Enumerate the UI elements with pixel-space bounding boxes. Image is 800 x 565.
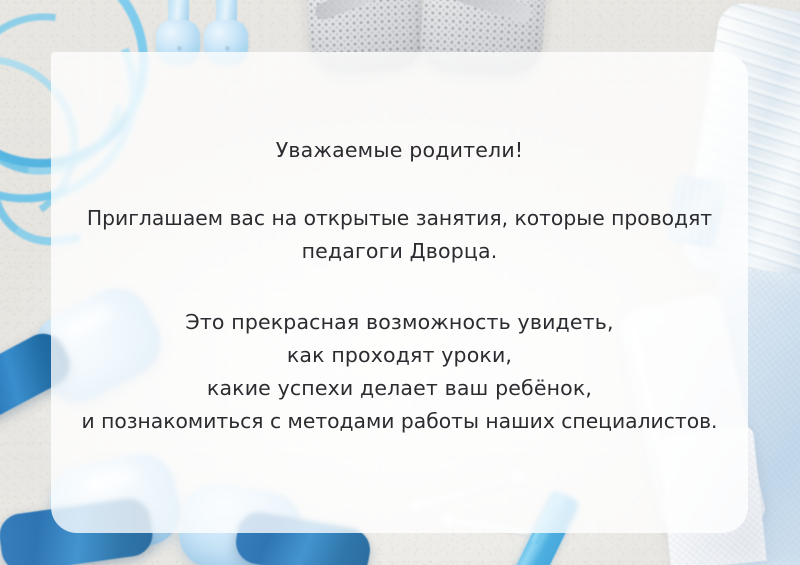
invitation-line-2: педагоги Дворца. xyxy=(65,235,734,268)
opportunity-line-1: Это прекрасная возможность увидеть, xyxy=(65,306,734,339)
panel-content: Уважаемые родители! Приглашаем вас на от… xyxy=(51,52,748,438)
invitation-block: Приглашаем вас на открытые занятия, кото… xyxy=(65,202,734,268)
opportunity-block: Это прекрасная возможность увидеть, как … xyxy=(65,306,734,438)
poster-canvas: Уважаемые родители! Приглашаем вас на от… xyxy=(0,0,800,565)
heading-text: Уважаемые родители! xyxy=(65,136,734,164)
invitation-line-1: Приглашаем вас на открытые занятия, кото… xyxy=(65,202,734,235)
opportunity-line-4: и познакомиться с методами работы наших … xyxy=(65,405,734,438)
opportunity-line-3: какие успехи делает ваш ребёнок, xyxy=(65,372,734,405)
opportunity-line-2: как проходят уроки, xyxy=(65,339,734,372)
translucent-text-panel: Уважаемые родители! Приглашаем вас на от… xyxy=(51,52,748,533)
